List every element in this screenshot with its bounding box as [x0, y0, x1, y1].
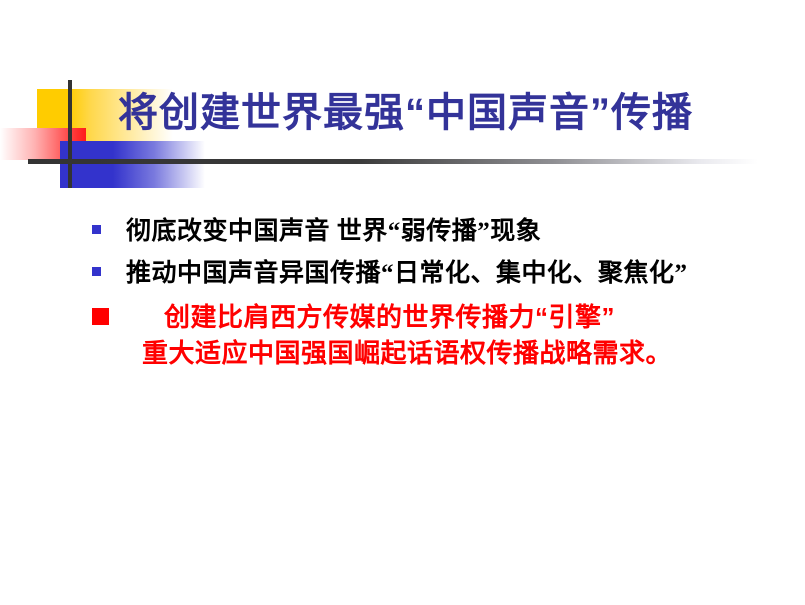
blue-square-bullet-icon: [92, 225, 101, 234]
presentation-slide: 将创建世界最强“中国声音”传播 彻底改变中国声音 世界“弱传播”现象 推动中国声…: [0, 0, 805, 605]
blue-gradient-icon: [113, 141, 205, 188]
bullet-marker-cell: [92, 214, 126, 234]
red-gradient-icon: [0, 128, 86, 160]
gold-block-icon: [37, 89, 115, 141]
blue-square-bullet-icon: [92, 267, 101, 276]
list-item-highlighted: 创建比肩西方传媒的世界传播力“引擎” 重大适应中国强国崛起话语权传播战略需求。: [92, 299, 792, 373]
blue-block-icon: [60, 141, 115, 188]
bullet-marker-cell: [92, 256, 126, 276]
list-item: 彻底改变中国声音 世界“弱传播”现象: [92, 214, 792, 250]
bullet-marker-cell: [92, 299, 126, 325]
bullet-list: 彻底改变中国声音 世界“弱传播”现象 推动中国声音异国传播“日常化、集中化、聚焦…: [92, 214, 792, 378]
highlight-line-1: 创建比肩西方传媒的世界传播力“引擎”: [164, 302, 615, 332]
vertical-rule-icon: [68, 80, 72, 188]
list-item-label: 彻底改变中国声音 世界“弱传播”现象: [126, 214, 792, 250]
red-square-bullet-icon: [92, 308, 109, 325]
horizontal-rule-icon: [28, 159, 758, 164]
list-item-label: 推动中国声音异国传播“日常化、集中化、聚焦化”: [126, 256, 792, 292]
list-item: 推动中国声音异国传播“日常化、集中化、聚焦化”: [92, 256, 792, 292]
slide-title: 将创建世界最强“中国声音”传播: [118, 90, 778, 136]
highlight-line-2: 重大适应中国强国崛起话语权传播战略需求。: [142, 335, 792, 372]
list-item-label-highlighted: 创建比肩西方传媒的世界传播力“引擎” 重大适应中国强国崛起话语权传播战略需求。: [126, 299, 792, 373]
